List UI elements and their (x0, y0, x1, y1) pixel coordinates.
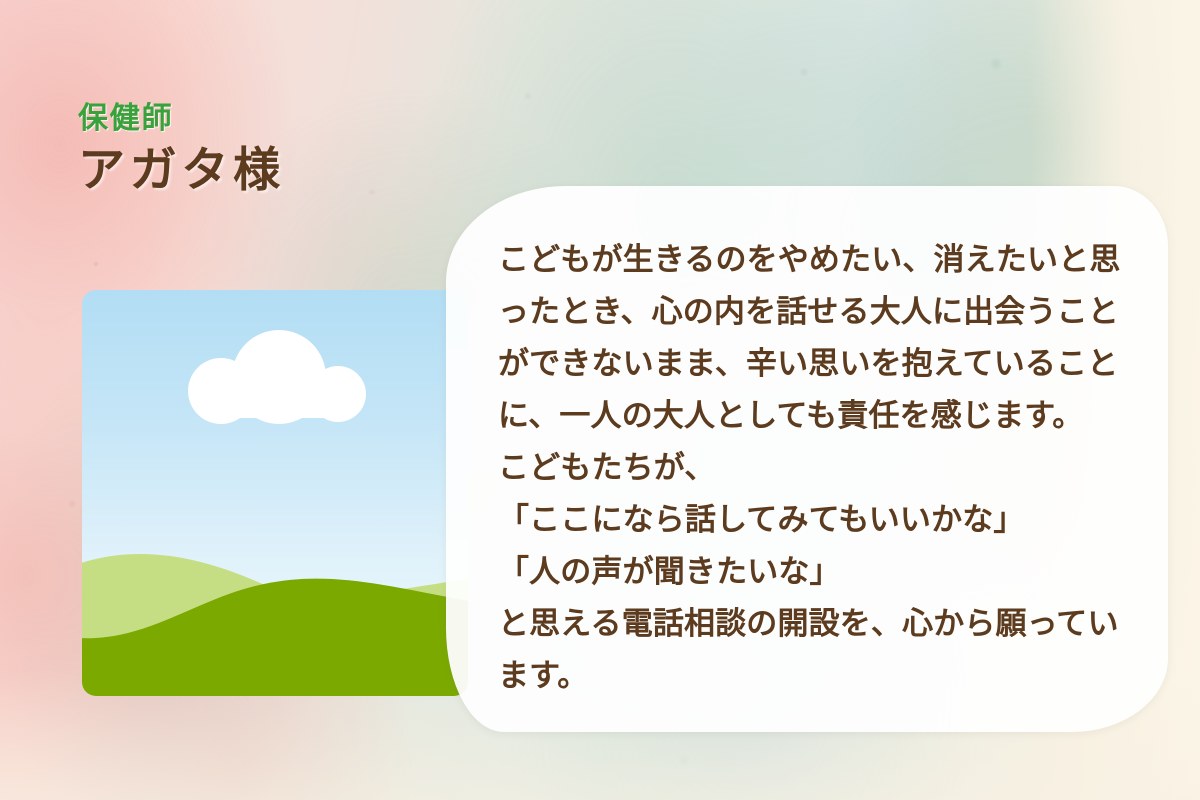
profile-heading: 保健師 アガタ様 (78, 104, 285, 197)
profile-role-label: 保健師 (78, 104, 285, 134)
cloud-main-puff (232, 330, 326, 424)
cloud-right-puff (310, 366, 366, 422)
profile-name: アガタ様 (78, 146, 285, 197)
cloud-icon (188, 330, 366, 408)
quote-card: こどもが生きるのをやめたい、消えたいと思ったとき、心の内を話せる大人に出会うこと… (446, 186, 1168, 732)
quote-body-text: こどもが生きるのをやめたい、消えたいと思ったとき、心の内を話せる大人に出会うこと… (498, 234, 1144, 702)
hill-front-shape (82, 546, 468, 696)
landscape-illustration (82, 290, 468, 696)
slide-canvas: 保健師 アガタ様 こどもが生きるのをやめたい、消えたいと思ったとき、心の内を話せ… (0, 0, 1200, 800)
